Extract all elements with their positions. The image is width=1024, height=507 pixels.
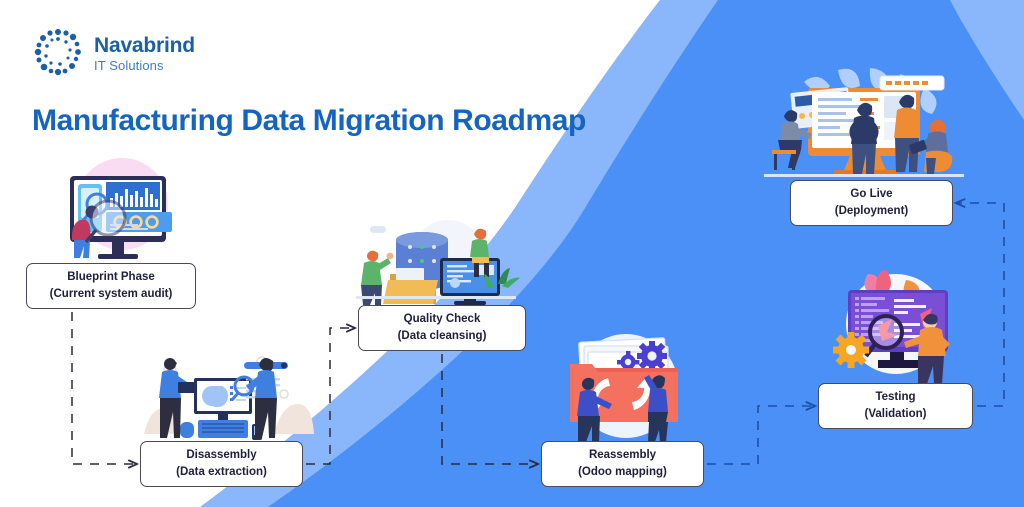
step-title: Reassembly bbox=[589, 447, 656, 464]
step-subtitle: (Data extraction) bbox=[176, 464, 267, 481]
orange-imac-dashboard-team-illustration bbox=[764, 66, 964, 184]
step-title: Testing bbox=[875, 389, 915, 406]
step-box-testing[interactable]: Testing (Validation) bbox=[818, 383, 973, 429]
step-title: Go Live bbox=[850, 186, 892, 203]
step-subtitle: (Deployment) bbox=[835, 203, 908, 220]
step-subtitle: (Validation) bbox=[865, 406, 927, 423]
two-people-server-computer-illustration bbox=[134, 338, 314, 446]
step-box-disassembly[interactable]: Disassembly (Data extraction) bbox=[140, 441, 303, 487]
brand-logo[interactable]: Navabrind IT Solutions bbox=[32, 26, 195, 78]
navabrind-dot-circle-logo-icon bbox=[32, 26, 84, 78]
roadmap-infographic: Navabrind IT Solutions Manufacturing Dat… bbox=[0, 0, 1024, 507]
page-title: Manufacturing Data Migration Roadmap bbox=[32, 104, 586, 138]
step-box-go-live[interactable]: Go Live (Deployment) bbox=[790, 180, 953, 226]
step-box-reassembly[interactable]: Reassembly (Odoo mapping) bbox=[541, 441, 704, 487]
brand-name: Navabrind bbox=[94, 35, 195, 56]
step-subtitle: (Data cleansing) bbox=[398, 328, 487, 345]
purple-monitor-bug-magnifier-gear-illustration bbox=[824, 266, 974, 388]
data-analytics-dashboard-magnifier-illustration bbox=[36, 152, 196, 270]
step-title: Blueprint Phase bbox=[67, 269, 155, 286]
step-title: Disassembly bbox=[186, 447, 256, 464]
red-folder-sync-arrows-gears-illustration bbox=[552, 324, 700, 444]
step-title: Quality Check bbox=[404, 311, 481, 328]
database-stack-folder-monitor-illustration bbox=[348, 212, 520, 310]
step-box-blueprint[interactable]: Blueprint Phase (Current system audit) bbox=[26, 263, 196, 309]
step-subtitle: (Current system audit) bbox=[50, 286, 173, 303]
step-box-quality-check[interactable]: Quality Check (Data cleansing) bbox=[358, 305, 526, 351]
step-subtitle: (Odoo mapping) bbox=[578, 464, 667, 481]
brand-tagline: IT Solutions bbox=[94, 59, 195, 72]
